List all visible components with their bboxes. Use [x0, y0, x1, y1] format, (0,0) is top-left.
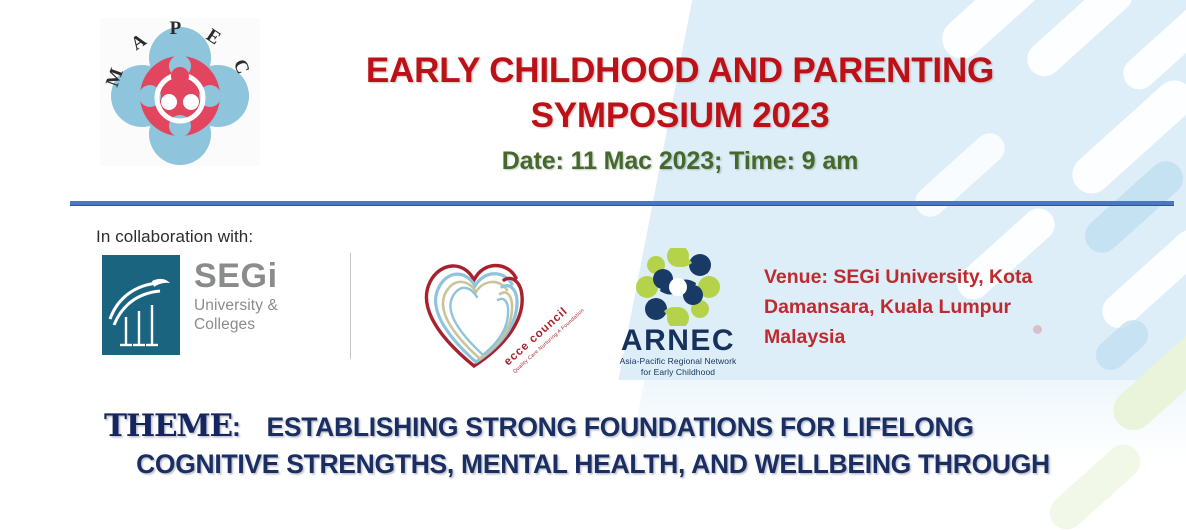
theme-block: THEME:ESTABLISHING STRONG FOUNDATIONS FO… [0, 408, 1186, 480]
segi-building-icon-graphic [102, 255, 180, 355]
venue-line-1: Venue: SEGi University, Kota [764, 262, 1114, 292]
venue-line-2: Damansara, Kuala Lumpur [764, 292, 1114, 322]
segi-university-colleges-logo: SEGi University & Colleges [102, 255, 352, 360]
page-title-line-1: EARLY CHILDHOOD AND PARENTING [280, 48, 1080, 93]
collaboration-label: In collaboration with: [96, 227, 253, 247]
segi-subtitle: University & Colleges [194, 296, 278, 334]
ecce-council-heart-icon: ecce council Quality Care Nurturing A Fo… [412, 248, 587, 376]
venue-text: Venue: SEGi University, Kota Damansara, … [764, 262, 1114, 352]
theme-text-line-1: ESTABLISHING STRONG FOUNDATIONS FOR LIFE… [266, 412, 973, 442]
arnec-tagline-line-2: for Early Childhood [598, 367, 758, 378]
theme-label: THEME [104, 408, 232, 444]
page-title-line-2: SYMPOSIUM 2023 [280, 93, 1080, 138]
segi-wordmark: SEGi [194, 259, 278, 293]
segi-subtitle-line-1: University & [194, 296, 278, 315]
poster-title-block: EARLY CHILDHOOD AND PARENTING SYMPOSIUM … [280, 48, 1080, 176]
theme-label-colon: : [232, 412, 241, 442]
logo-separator [350, 253, 351, 359]
symposium-poster-slide: M A P E C E EARLY CHILDHOOD AND PARENTIN… [0, 0, 1186, 530]
theme-line-1: THEME:ESTABLISHING STRONG FOUNDATIONS FO… [0, 408, 1186, 444]
arnec-tagline-line-1: Asia-Pacific Regional Network [598, 356, 758, 367]
arnec-circle-icon [598, 248, 758, 326]
arnec-wordmark: ARNEC [598, 326, 758, 356]
theme-line-2: COGNITIVE STRENGTHS, MENTAL HEALTH, AND … [0, 449, 1186, 480]
venue-line-3: Malaysia [764, 322, 1114, 352]
date-time-text: Date: 11 Mac 2023; Time: 9 am [280, 147, 1080, 176]
ecce-council-logo: ecce council Quality Care Nurturing A Fo… [412, 248, 587, 376]
arnec-tagline: Asia-Pacific Regional Network for Early … [598, 356, 758, 377]
segi-wordmark-block: SEGi University & Colleges [194, 259, 278, 334]
segi-building-icon [102, 255, 180, 355]
segi-subtitle-line-2: Colleges [194, 315, 278, 334]
divider [70, 201, 1174, 206]
mapece-logo: M A P E C E [100, 18, 260, 166]
mapece-logo-graphic: M A P E C E [100, 18, 260, 166]
arnec-logo: ARNEC Asia-Pacific Regional Network for … [598, 248, 758, 376]
theme-text-line-2: COGNITIVE STRENGTHS, MENTAL HEALTH, AND … [136, 449, 1050, 479]
